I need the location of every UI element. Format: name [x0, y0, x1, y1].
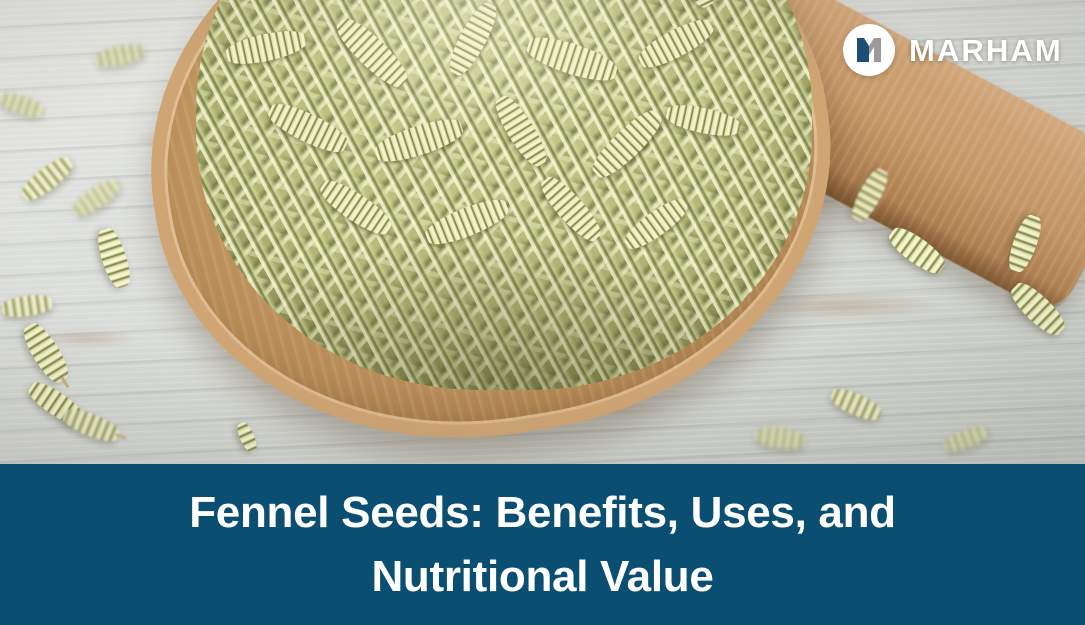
- page-title-line-2: Nutritional Value: [371, 545, 713, 609]
- pile-fennel-seed: [524, 31, 621, 88]
- marham-logo-mark-icon: [843, 24, 895, 76]
- pile-fennel-seed: [372, 113, 467, 168]
- fennel-seed-stem: [115, 433, 127, 440]
- pile-fennel-seed: [250, 0, 336, 1]
- scattered-fennel-seed: [755, 425, 805, 451]
- scattered-fennel-seed: [1, 293, 53, 320]
- pile-fennel-seed: [535, 171, 607, 246]
- scattered-fennel-seed: [17, 152, 76, 205]
- pile-fennel-seed: [315, 174, 396, 241]
- pile-fennel-seed: [489, 91, 552, 171]
- pile-fennel-seed: [422, 193, 512, 251]
- scattered-fennel-seed: [0, 90, 46, 121]
- page-title-line-1: Fennel Seeds: Benefits, Uses, and: [189, 481, 896, 545]
- pile-fennel-seed: [664, 101, 742, 141]
- pile-fennel-seed: [224, 26, 308, 69]
- scattered-fennel-seed: [95, 41, 146, 70]
- scattered-fennel-seed: [18, 319, 74, 387]
- fennel-seed-pile: [196, 0, 812, 390]
- pile-fennel-seed: [586, 104, 667, 184]
- scattered-fennel-seed: [60, 404, 122, 446]
- pile-fennel-seed: [634, 13, 717, 74]
- scattered-fennel-seed: [69, 175, 123, 221]
- fennel-seeds-photograph: MARHAM: [0, 0, 1085, 464]
- marham-wordmark: MARHAM: [909, 35, 1063, 66]
- scattered-fennel-seed: [942, 423, 990, 455]
- scattered-fennel-seed: [828, 384, 884, 424]
- pile-fennel-seed: [620, 193, 692, 255]
- title-banner: Fennel Seeds: Benefits, Uses, and Nutrit…: [0, 464, 1085, 625]
- scattered-fennel-seed: [235, 420, 260, 453]
- pile-fennel-seed: [264, 97, 352, 159]
- fennel-seed-stem: [61, 376, 70, 388]
- hero-banner-image: MARHAM Fennel Seeds: Benefits, Uses, and…: [0, 0, 1085, 625]
- scattered-fennel-seed: [93, 226, 134, 290]
- pile-fennel-seed: [330, 12, 413, 94]
- pile-fennel-seed: [443, 0, 503, 80]
- marham-logo[interactable]: MARHAM: [843, 24, 1063, 76]
- pile-fennel-seed: [659, 0, 721, 12]
